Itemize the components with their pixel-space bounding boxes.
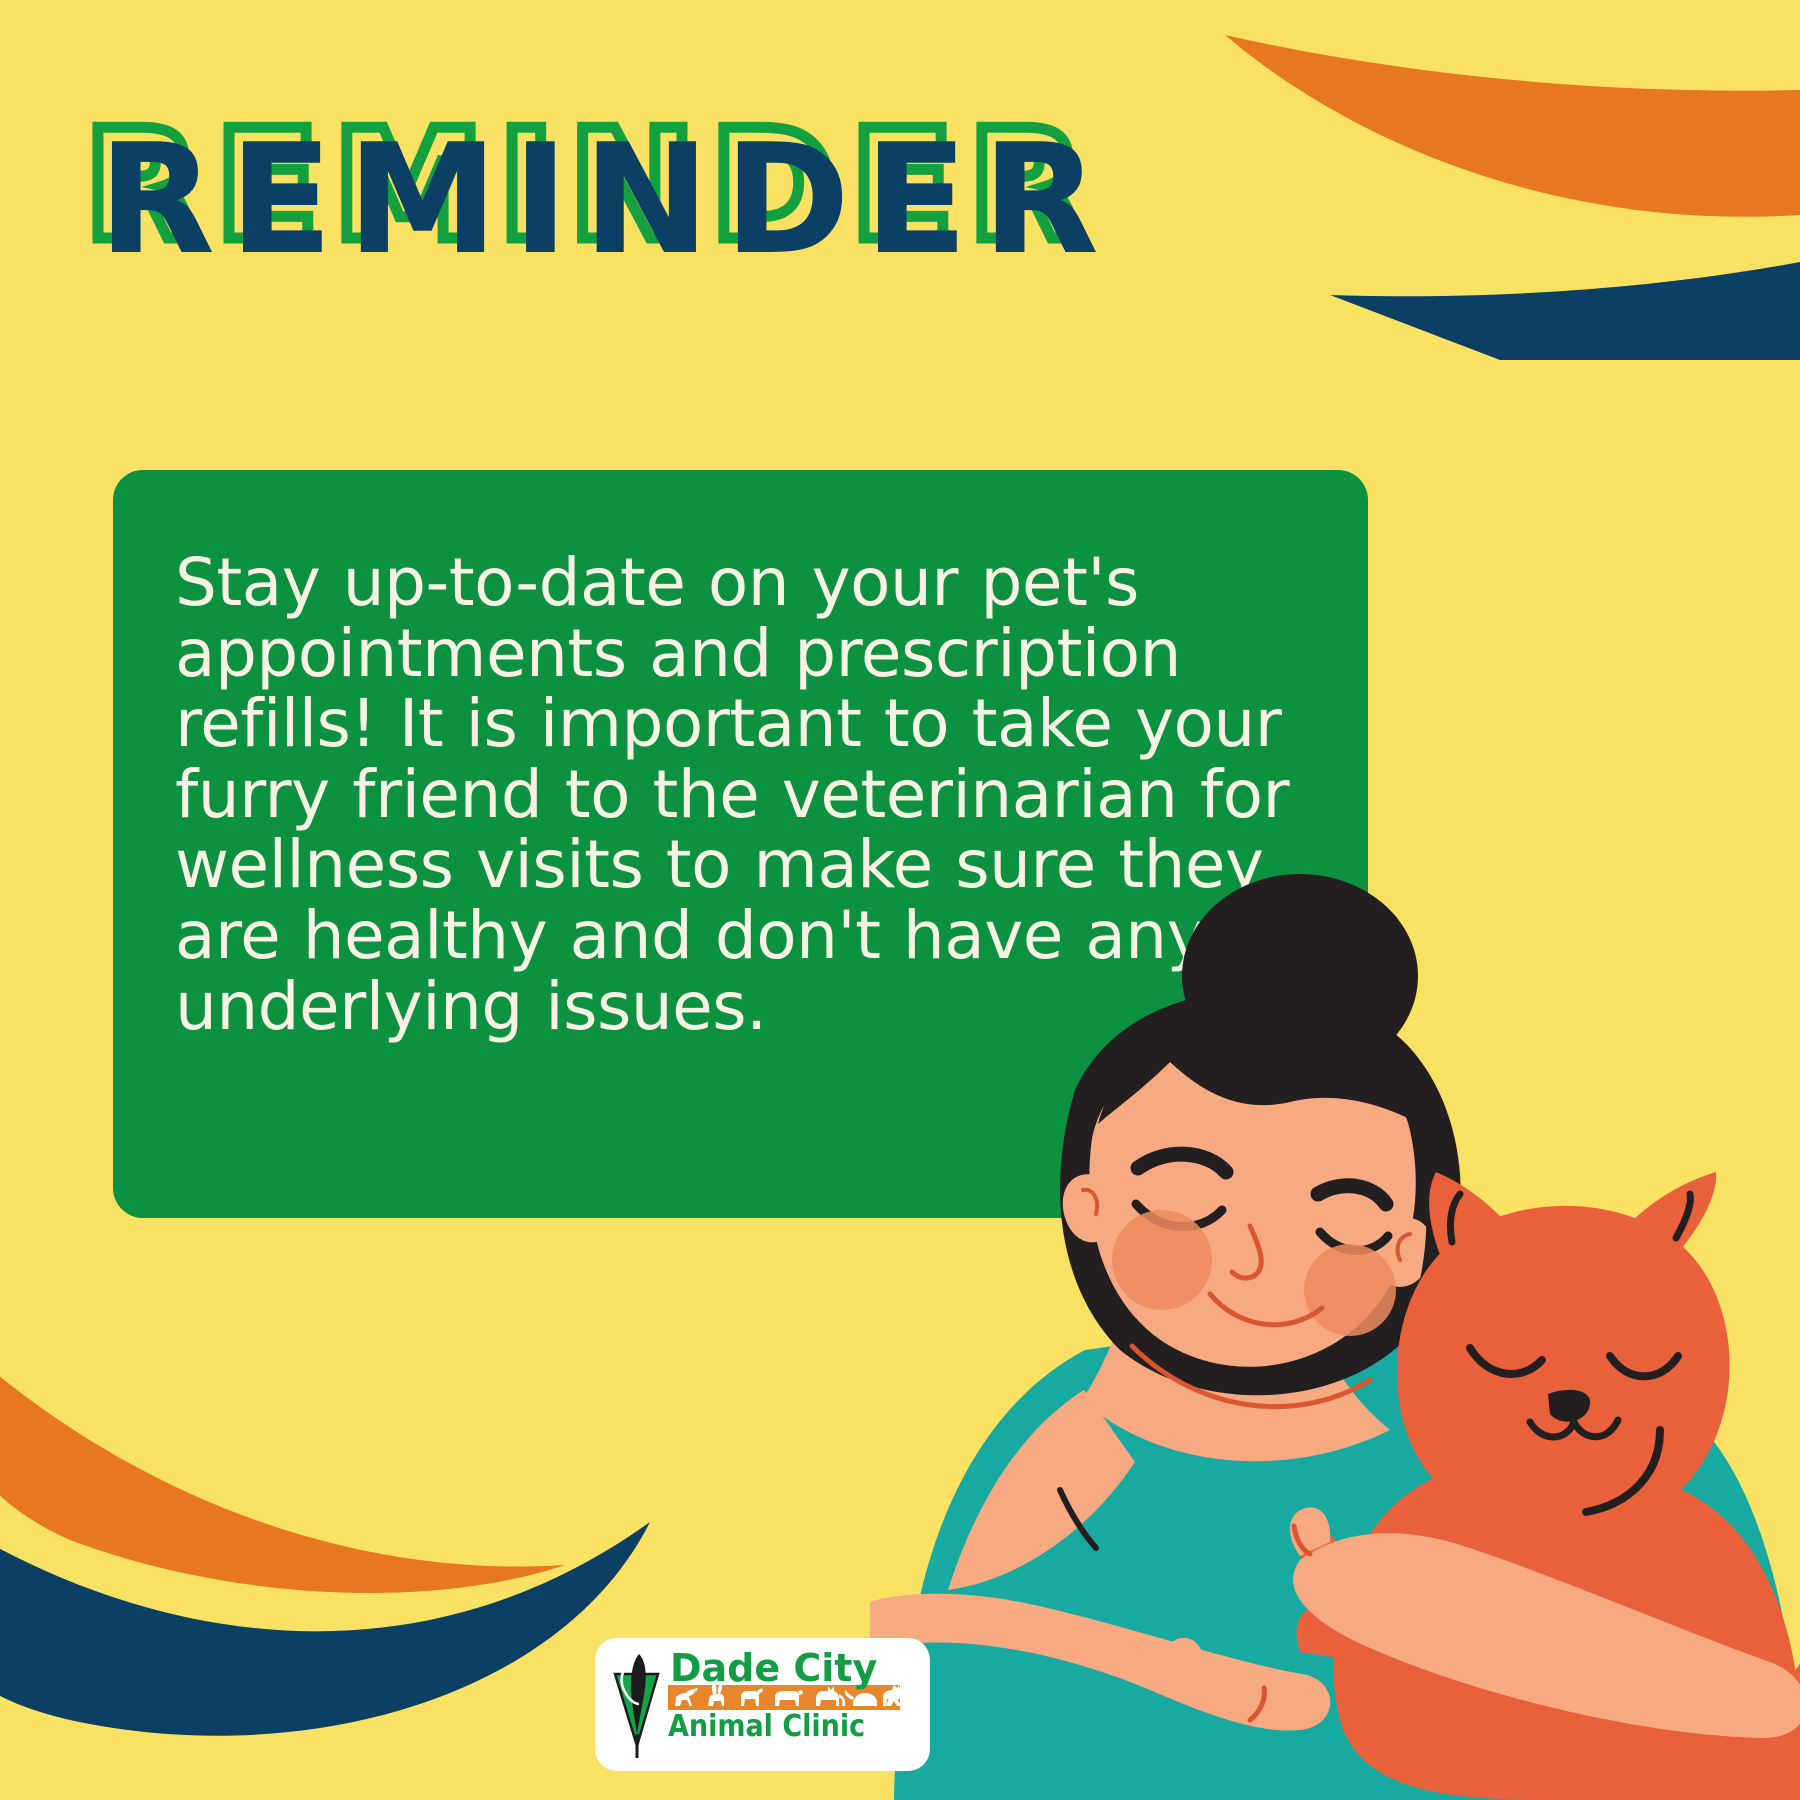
cheek-right — [1304, 1244, 1396, 1336]
poster-canvas: REMINDER REMINDER Stay up-to-date on you… — [0, 0, 1800, 1800]
page-title: REMINDER REMINDER — [96, 120, 1296, 320]
orange-swoosh-icon — [0, 1360, 565, 1593]
page-title-fill: REMINDER — [98, 124, 1113, 276]
illustration-woman-holding-cat — [870, 790, 1800, 1800]
dade-city-animal-clinic-logo: Dade City Animal Clinic — [595, 1638, 930, 1771]
logo-clinic-name: Dade City — [670, 1646, 877, 1690]
logo-badge[interactable]: Dade City Animal Clinic — [595, 1638, 930, 1771]
logo-clinic-tagline: Animal Clinic — [668, 1709, 865, 1744]
orange-crescent-icon — [1225, 35, 1800, 217]
navy-wedge-icon — [1330, 262, 1800, 360]
navy-swoosh-icon — [0, 1522, 650, 1736]
cheek-left — [1112, 1210, 1212, 1310]
